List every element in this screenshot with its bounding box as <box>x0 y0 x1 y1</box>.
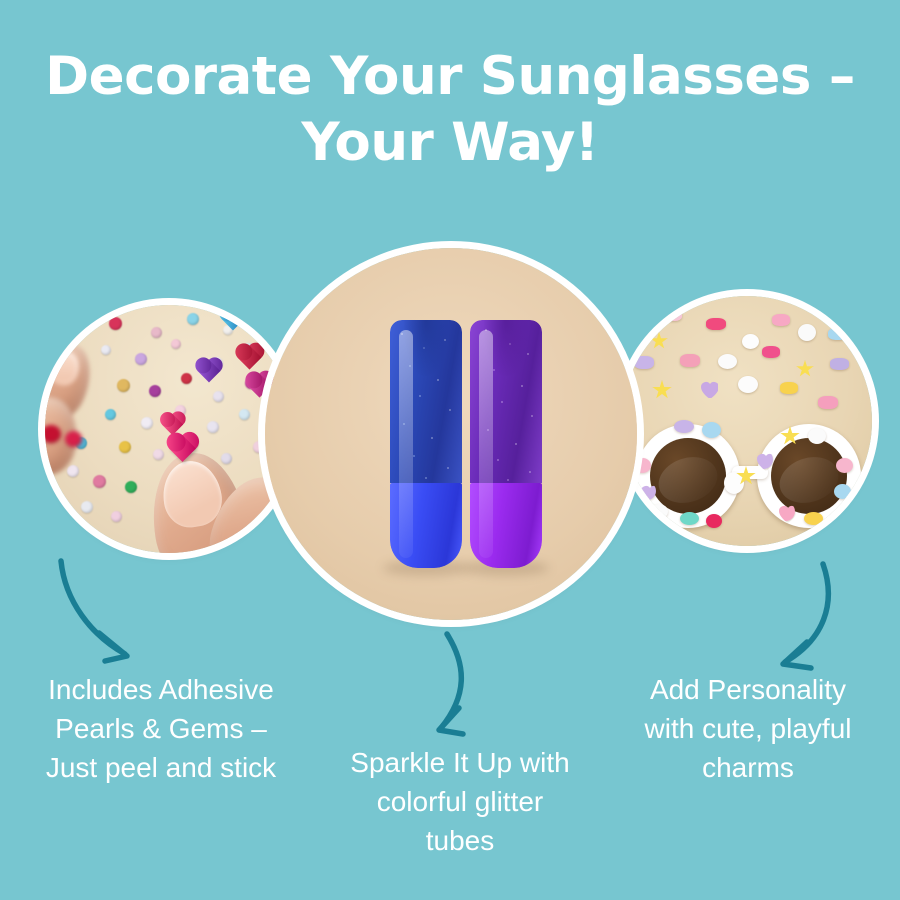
feature-image-glitter-tubes <box>265 248 637 620</box>
glitter-tubes-photo <box>265 248 637 620</box>
blue-glitter-tube <box>390 320 462 568</box>
caption-playful-charms: Add Personality with cute, playful charm… <box>600 670 896 787</box>
charms-photo <box>622 296 872 546</box>
feature-image-playful-charms <box>622 296 872 546</box>
gems-photo <box>45 305 293 553</box>
decorated-sunglasses <box>636 424 861 528</box>
page-title: Decorate Your Sunglasses – Your Way! <box>0 44 900 176</box>
caption-glitter-tubes: Sparkle It Up with colorful glitter tube… <box>305 743 615 860</box>
feature-image-adhesive-gems <box>45 305 293 553</box>
poster-canvas: Decorate Your Sunglasses – Your Way! <box>0 0 900 900</box>
purple-glitter-tube <box>470 320 542 568</box>
arrow-adhesive-gems <box>55 555 205 670</box>
caption-adhesive-gems: Includes Adhesive Pearls & Gems – Just p… <box>6 670 316 787</box>
arrow-playful-charms <box>775 558 900 678</box>
arrow-glitter-tubes <box>425 630 535 745</box>
